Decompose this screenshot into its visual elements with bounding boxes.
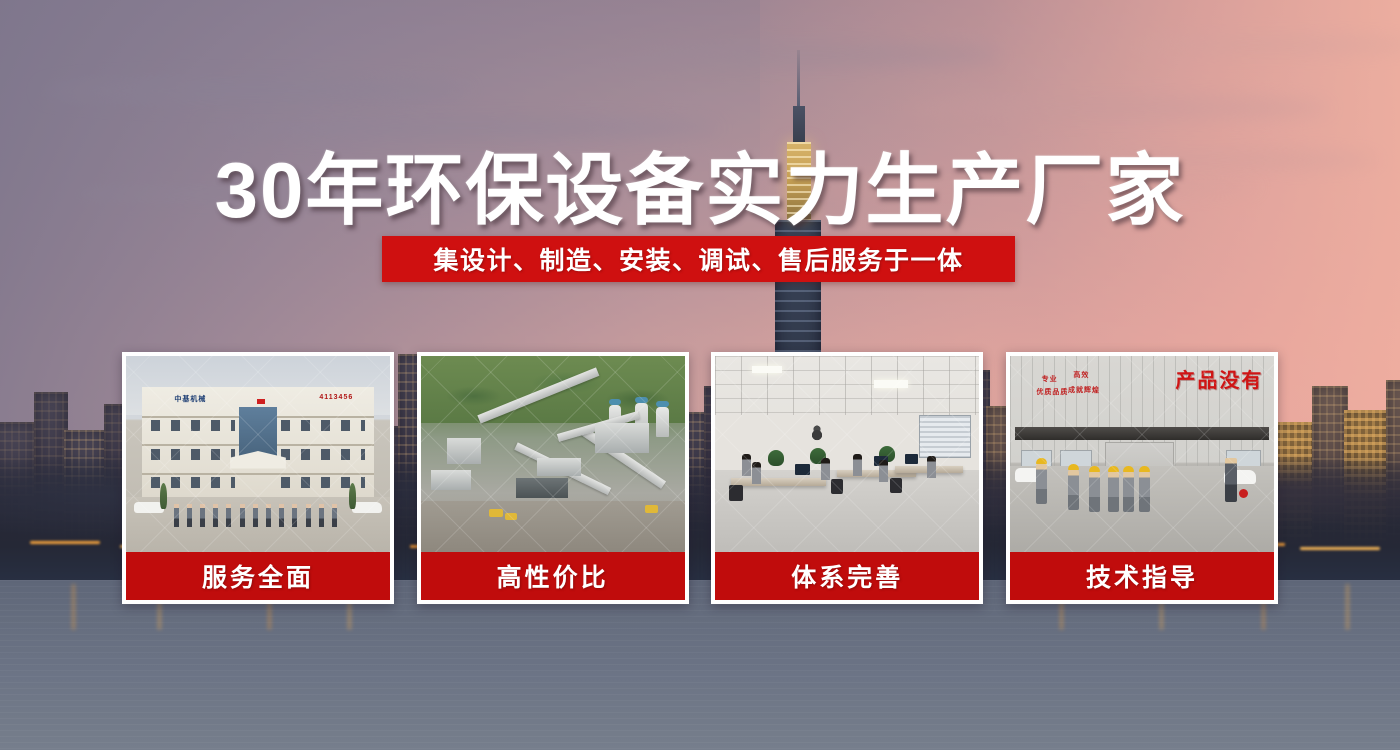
card-3-label-text: 体系完善 — [791, 558, 903, 594]
card-4-sign-small-3: 优质品质 — [1036, 387, 1068, 397]
card-4-label-text: 技术指导 — [1086, 558, 1198, 594]
card-4-sign-small-2: 高效 — [1073, 370, 1089, 380]
feature-card-3[interactable]: 体系完善 — [711, 352, 983, 604]
card-2-photo — [421, 356, 685, 552]
banner-stage: 30年环保设备实力生产厂家 集设计、制造、安装、调试、售后服务于一体 — [0, 0, 1400, 750]
card-1-building-tel: 4113456 — [319, 394, 353, 401]
card-1-building-sign: 中基机械 — [174, 394, 206, 404]
card-1-photo: 中基机械 4113456 — [126, 356, 390, 552]
card-4-sign-small-4: 成就辉煌 — [1068, 385, 1100, 395]
card-1-label: 服务全面 — [126, 552, 390, 600]
tower-spire — [797, 50, 800, 106]
card-4-factory-sign: 产品没有 — [1175, 364, 1263, 393]
page-title: 30年环保设备实力生产厂家 — [0, 128, 1400, 240]
feature-card-list: 中基机械 4113456 服务全面 — [122, 352, 1278, 604]
card-2-label-text: 高性价比 — [497, 558, 609, 594]
card-4-photo: 产品没有 专业 高效 优质品质 成就辉煌 — [1010, 356, 1274, 552]
card-2-label: 高性价比 — [421, 552, 685, 600]
feature-card-2[interactable]: 高性价比 — [417, 352, 689, 604]
card-4-sign-small-1: 专业 — [1042, 374, 1058, 384]
card-3-photo — [715, 356, 979, 552]
subtitle-text: 集设计、制造、安装、调试、售后服务于一体 — [433, 241, 963, 277]
card-1-label-text: 服务全面 — [202, 558, 314, 594]
card-3-label: 体系完善 — [715, 552, 979, 600]
feature-card-1[interactable]: 中基机械 4113456 服务全面 — [122, 352, 394, 604]
card-4-label: 技术指导 — [1010, 552, 1274, 600]
subtitle-banner: 集设计、制造、安装、调试、售后服务于一体 — [382, 236, 1015, 282]
feature-card-4[interactable]: 产品没有 专业 高效 优质品质 成就辉煌 — [1006, 352, 1278, 604]
river-water — [0, 580, 1400, 750]
